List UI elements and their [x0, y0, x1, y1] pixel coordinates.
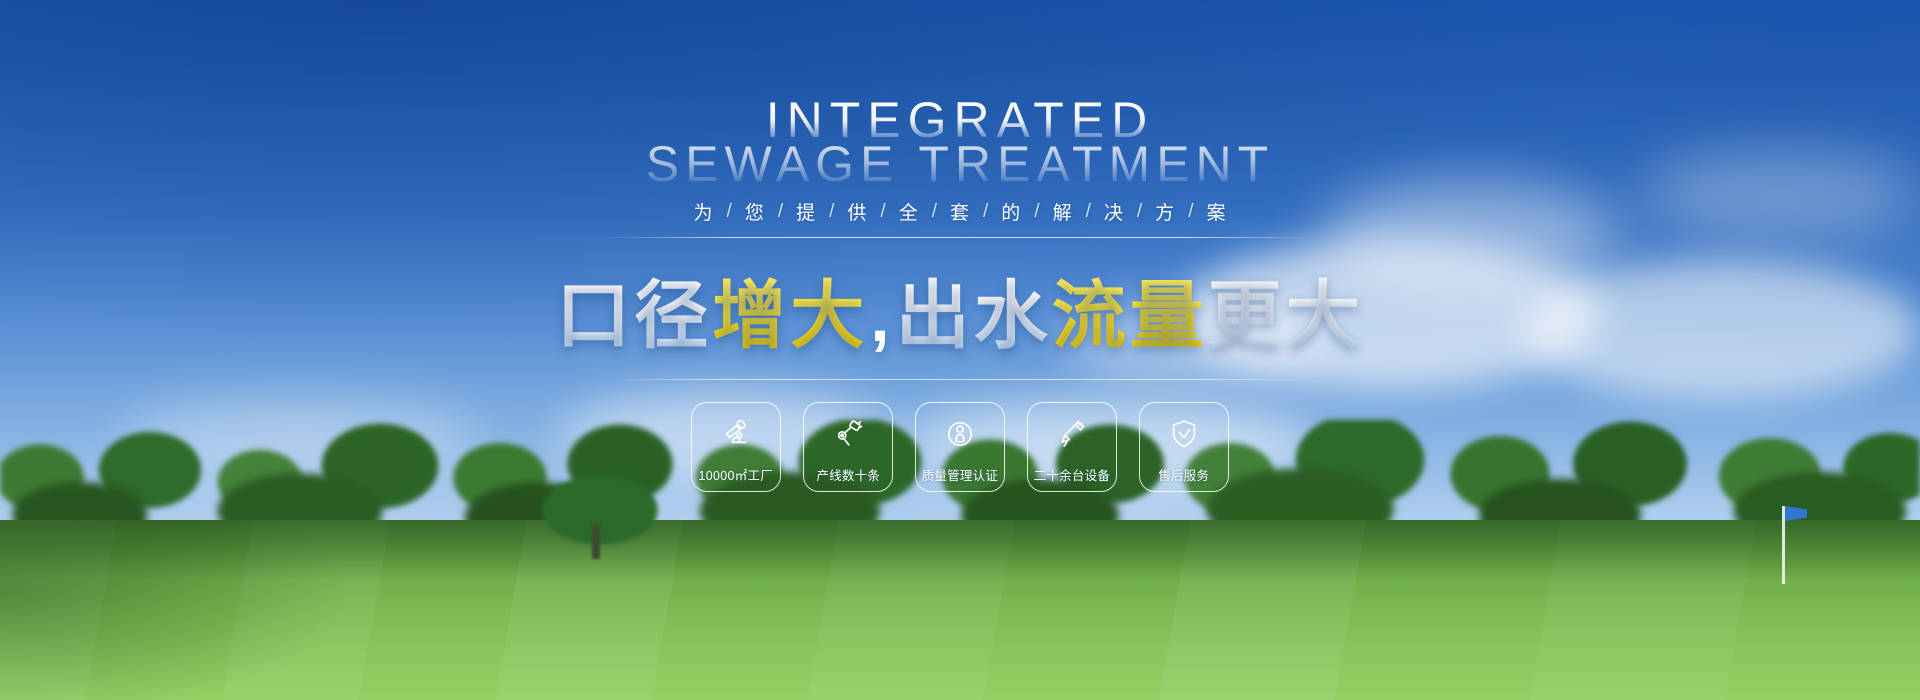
tagline-character: 的 [988, 198, 1034, 225]
headline-segment: 流量 [1052, 256, 1208, 363]
feature-badge-list: 10000㎡工厂产线数十条质量管理认证二十余台设备售后服务 [691, 402, 1229, 492]
tagline-character: 提 [783, 198, 829, 225]
robot-arm-icon [831, 417, 865, 451]
headline-comma: , [868, 277, 895, 357]
tagline-character: 您 [732, 198, 778, 225]
tagline-character: 方 [1142, 198, 1188, 225]
microscope-icon [719, 417, 753, 451]
banner-content: INTEGRATED SEWAGE TREATMENT 为/您/提/供/全/套/… [0, 0, 1920, 700]
tagline-character: 套 [937, 198, 983, 225]
tagline-character: 案 [1193, 198, 1239, 225]
hero-banner: INTEGRATED SEWAGE TREATMENT 为/您/提/供/全/套/… [0, 0, 1920, 700]
tagline-character: 全 [886, 198, 932, 225]
feature-badge[interactable]: 10000㎡工厂 [691, 402, 781, 492]
english-headline-line2: SEWAGE TREATMENT [646, 140, 1274, 188]
wrench-tool-icon [1055, 417, 1089, 451]
feature-badge-label: 10000㎡工厂 [699, 465, 773, 483]
tagline-character: 为 [681, 198, 727, 225]
feature-badge[interactable]: 产线数十条 [803, 402, 893, 492]
divider-top [605, 237, 1315, 238]
shield-check-icon [1167, 417, 1201, 451]
tagline-character: 解 [1040, 198, 1086, 225]
tagline: 为/您/提/供/全/套/的/解/决/方/案 [681, 198, 1240, 225]
main-headline: 口径增大,出水流量更大 [556, 256, 1363, 363]
headline-segment: 出水 [896, 256, 1052, 363]
english-headline: INTEGRATED SEWAGE TREATMENT [646, 96, 1274, 188]
headline-segment: 增大 [712, 256, 868, 363]
feature-badge[interactable]: 质量管理认证 [915, 402, 1005, 492]
award-medal-icon [943, 417, 977, 451]
headline-segment: 口径 [556, 256, 712, 363]
headline-segment: 更大 [1208, 256, 1364, 363]
feature-badge-label: 二十余台设备 [1034, 465, 1111, 483]
feature-badge-label: 售后服务 [1158, 465, 1209, 483]
feature-badge[interactable]: 售后服务 [1139, 402, 1229, 492]
tagline-character: 决 [1091, 198, 1137, 225]
divider-bottom [610, 379, 1310, 380]
feature-badge-label: 质量管理认证 [922, 465, 999, 483]
feature-badge-label: 产线数十条 [816, 465, 880, 483]
tagline-character: 供 [834, 198, 880, 225]
feature-badge[interactable]: 二十余台设备 [1027, 402, 1117, 492]
